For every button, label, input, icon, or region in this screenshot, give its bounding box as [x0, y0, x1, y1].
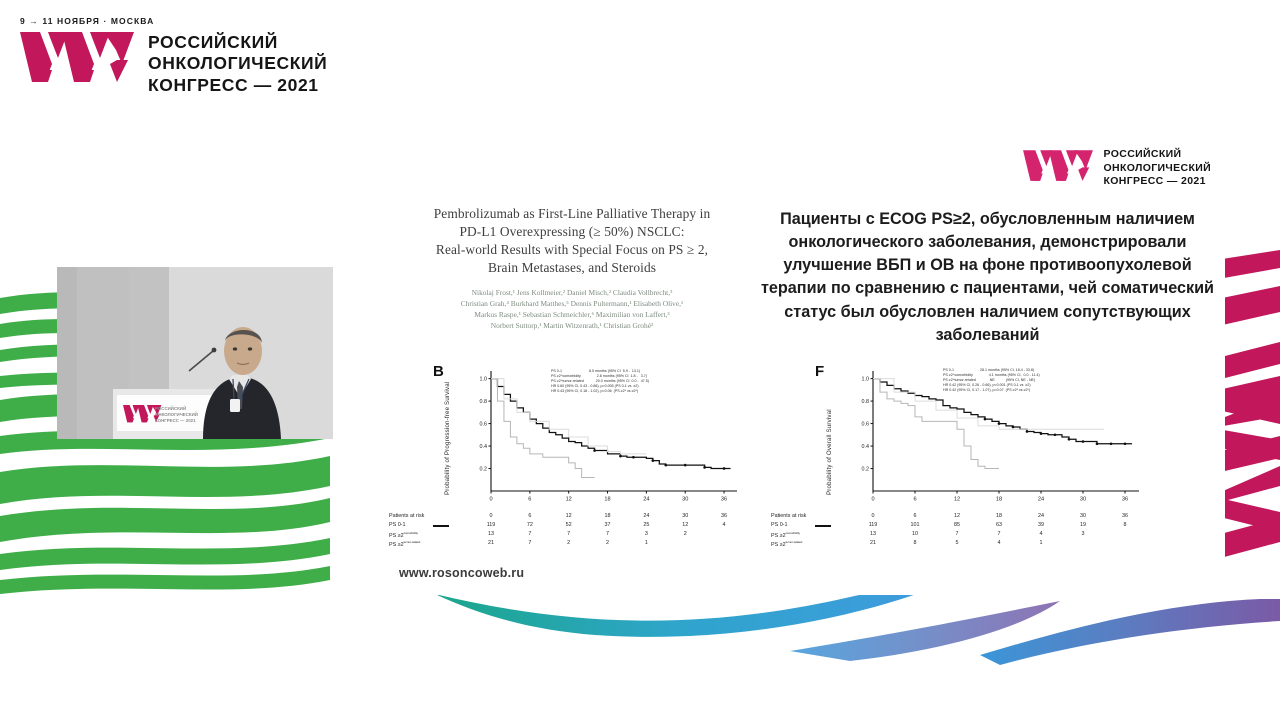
svg-text:18: 18: [996, 497, 1002, 503]
risk-table-time: 30: [675, 513, 695, 519]
slide-logo-line1: РОССИЙСКИЙ: [1104, 148, 1211, 162]
paper-authors-line1: Nikolaj Frost,¹ Jens Kollmeier,² Daniel …: [397, 288, 747, 299]
risk-table-time: 30: [1073, 513, 1093, 519]
risk-table-cell: 2: [675, 531, 695, 537]
congress-title-line3: КОНГРЕСС — 2021: [148, 75, 327, 96]
podium-line1: РОССИЙСКИЙ: [155, 406, 186, 411]
svg-text:12: 12: [566, 497, 572, 503]
risk-table-row-label: PS ≥2comorbidity: [771, 531, 800, 539]
risk-table-cell: 2: [598, 540, 618, 546]
risk-table-time: 36: [1115, 513, 1135, 519]
risk-table-time: 0: [481, 513, 501, 519]
slide-xxv-logo-icon: [1021, 149, 1095, 187]
xxv-logo-icon: [18, 30, 136, 92]
svg-text:0.8: 0.8: [862, 399, 870, 405]
risk-table-time: 6: [905, 513, 925, 519]
risk-table-cell: 7: [520, 540, 540, 546]
risk-table-cell: 25: [636, 522, 656, 528]
presentation-screen: 9 → 11 НОЯБРЯ · МОСКВА РОССИЙСКИЙ ОНКОЛО…: [0, 0, 1280, 720]
congress-title-line2: ОНКОЛОГИЧЕСКИЙ: [148, 53, 327, 74]
panel-b-plot: 0.20.40.60.81.0061218243036: [465, 367, 745, 515]
risk-table-cell: 8: [905, 540, 925, 546]
slide-logo-line3: КОНГРЕСС — 2021: [1104, 175, 1211, 189]
risk-table-cell: 63: [989, 522, 1009, 528]
slide-congress-logo: РОССИЙСКИЙ ОНКОЛОГИЧЕСКИЙ КОНГРЕСС — 202…: [1021, 148, 1211, 189]
risk-table-series-rule: [815, 525, 831, 527]
svg-text:18: 18: [604, 497, 610, 503]
svg-text:0: 0: [489, 497, 492, 503]
svg-text:24: 24: [643, 497, 649, 503]
svg-text:0: 0: [871, 497, 874, 503]
risk-table-cell: 52: [559, 522, 579, 528]
svg-text:0.6: 0.6: [862, 422, 870, 428]
chart-panel-b: B Probability of Progression-free Surviv…: [403, 365, 753, 565]
svg-text:6: 6: [528, 497, 531, 503]
risk-table-series-rule: [433, 525, 449, 527]
risk-table-title: Patients at risk: [771, 513, 806, 519]
risk-table-time: 24: [1031, 513, 1051, 519]
podium-line2: ОНКОЛОГИЧЕСКИЙ: [155, 412, 198, 417]
risk-table-time: 0: [863, 513, 883, 519]
risk-table-cell: 3: [636, 531, 656, 537]
risk-table-row-label: PS 0-1: [389, 522, 405, 528]
risk-table-cell: 7: [520, 531, 540, 537]
risk-table-time: 24: [636, 513, 656, 519]
slide-statement-text: Пациенты с ECOG PS≥2, обусловленным нали…: [760, 208, 1215, 347]
risk-table-cell: 12: [675, 522, 695, 528]
svg-text:0.2: 0.2: [862, 467, 870, 473]
risk-table-time: 18: [989, 513, 1009, 519]
paper-authors-line2: Christian Grah,⁴ Burkhard Matthes,⁵ Denn…: [397, 299, 747, 310]
risk-table-cell: 1: [636, 540, 656, 546]
risk-table-cell: 1: [1031, 540, 1051, 546]
svg-text:36: 36: [721, 497, 727, 503]
svg-text:0.2: 0.2: [480, 467, 488, 473]
panel-f-letter: F: [815, 363, 824, 380]
risk-table-cell: 3: [1073, 531, 1093, 537]
risk-table-cell: 4: [989, 540, 1009, 546]
risk-table-row-label: PS ≥2tumor-related: [389, 540, 420, 548]
svg-text:6: 6: [913, 497, 916, 503]
panel-b-ylabel: Probability of Progression-free Survival: [444, 382, 451, 495]
paper-authors: Nikolaj Frost,¹ Jens Kollmeier,² Daniel …: [397, 288, 747, 332]
risk-table-time: 12: [947, 513, 967, 519]
svg-text:0.6: 0.6: [480, 422, 488, 428]
risk-table-cell: 7: [598, 531, 618, 537]
risk-table-cell: 5: [947, 540, 967, 546]
paper-authors-line3: Markus Raspe,¹ Sebastian Schmeichler,⁶ M…: [397, 310, 747, 321]
slide-logo-line2: ОНКОЛОГИЧЕСКИЙ: [1104, 162, 1211, 176]
risk-table-cell: 10: [905, 531, 925, 537]
risk-table-cell: 119: [481, 522, 501, 528]
risk-table-row-label: PS ≥2comorbidity: [389, 531, 418, 539]
panel-f-ylabel: Probability of Overall Survival: [826, 409, 833, 495]
charts-container: B Probability of Progression-free Surviv…: [385, 365, 1225, 565]
speaker-video-thumbnail[interactable]: РОССИЙСКИЙ ОНКОЛОГИЧЕСКИЙ КОНГРЕСС — 202…: [57, 267, 333, 439]
risk-table-title: Patients at risk: [389, 513, 424, 519]
risk-table-cell: 7: [947, 531, 967, 537]
svg-text:0.4: 0.4: [480, 444, 488, 450]
svg-text:30: 30: [1080, 497, 1086, 503]
svg-text:1.0: 1.0: [862, 377, 870, 383]
congress-dates: 9 → 11 НОЯБРЯ · МОСКВА: [20, 16, 358, 26]
risk-table-cell: 7: [559, 531, 579, 537]
panel-b-letter: B: [433, 363, 444, 380]
svg-text:12: 12: [954, 497, 960, 503]
risk-table-cell: 101: [905, 522, 925, 528]
risk-table-cell: 13: [863, 531, 883, 537]
panel-b-risk-table: Patients at risk061218243036PS 0-1119725…: [389, 513, 689, 561]
risk-table-row-label: PS 0-1: [771, 522, 787, 528]
risk-table-time: 36: [714, 513, 734, 519]
chart-panel-f: F Probability of Overall Survival PS 0-1…: [785, 365, 1185, 565]
panel-f-risk-table: Patients at risk061218243036PS 0-1119101…: [771, 513, 1091, 561]
risk-table-time: 12: [559, 513, 579, 519]
risk-table-cell: 85: [947, 522, 967, 528]
congress-logo: 9 → 11 НОЯБРЯ · МОСКВА РОССИЙСКИЙ ОНКОЛО…: [18, 16, 358, 108]
congress-title-line1: РОССИЙСКИЙ: [148, 32, 327, 53]
risk-table-cell: 39: [1031, 522, 1051, 528]
svg-text:36: 36: [1122, 497, 1128, 503]
svg-text:0.4: 0.4: [862, 444, 870, 450]
svg-text:30: 30: [682, 497, 688, 503]
risk-table-row-label: PS ≥2tumor-related: [771, 540, 802, 548]
risk-table-cell: 7: [989, 531, 1009, 537]
risk-table-cell: 21: [481, 540, 501, 546]
risk-table-cell: 21: [863, 540, 883, 546]
risk-table-time: 6: [520, 513, 540, 519]
svg-text:24: 24: [1038, 497, 1044, 503]
slide-congress-title: РОССИЙСКИЙ ОНКОЛОГИЧЕСКИЙ КОНГРЕСС — 202…: [1104, 148, 1211, 189]
risk-table-cell: 119: [863, 522, 883, 528]
presentation-slide: РОССИЙСКИЙ ОНКОЛОГИЧЕСКИЙ КОНГРЕСС — 202…: [385, 120, 1225, 595]
podium-line3: КОНГРЕСС — 2021: [155, 418, 196, 423]
svg-text:0.8: 0.8: [480, 399, 488, 405]
risk-table-cell: 4: [714, 522, 734, 528]
panel-f-plot: 0.20.40.60.81.0061218243036: [847, 367, 1147, 515]
paper-title-line2: PD-L1 Overexpressing (≥ 50%) NSCLC:: [397, 223, 747, 241]
paper-title-line1: Pembrolizumab as First-Line Palliative T…: [397, 205, 747, 223]
speaker-video-frame: РОССИЙСКИЙ ОНКОЛОГИЧЕСКИЙ КОНГРЕСС — 202…: [57, 267, 333, 439]
paper-reference: Pembrolizumab as First-Line Palliative T…: [397, 205, 747, 332]
paper-title-line3: Real-world Results with Special Focus on…: [397, 241, 747, 259]
risk-table-cell: 13: [481, 531, 501, 537]
risk-table-cell: 8: [1115, 522, 1135, 528]
paper-title: Pembrolizumab as First-Line Palliative T…: [397, 205, 747, 277]
risk-table-cell: 2: [559, 540, 579, 546]
congress-title: РОССИЙСКИЙ ОНКОЛОГИЧЕСКИЙ КОНГРЕСС — 202…: [148, 30, 327, 96]
risk-table-cell: 72: [520, 522, 540, 528]
paper-authors-line4: Norbert Suttorp,¹ Martin Witzenrath,¹ Ch…: [397, 321, 747, 332]
risk-table-cell: 37: [598, 522, 618, 528]
risk-table-cell: 19: [1073, 522, 1093, 528]
paper-title-line4: Brain Metastases, and Steroids: [397, 259, 747, 277]
slide-url: www.rosoncoweb.ru: [399, 566, 524, 580]
risk-table-time: 18: [598, 513, 618, 519]
risk-table-cell: 4: [1031, 531, 1051, 537]
svg-text:1.0: 1.0: [480, 377, 488, 383]
